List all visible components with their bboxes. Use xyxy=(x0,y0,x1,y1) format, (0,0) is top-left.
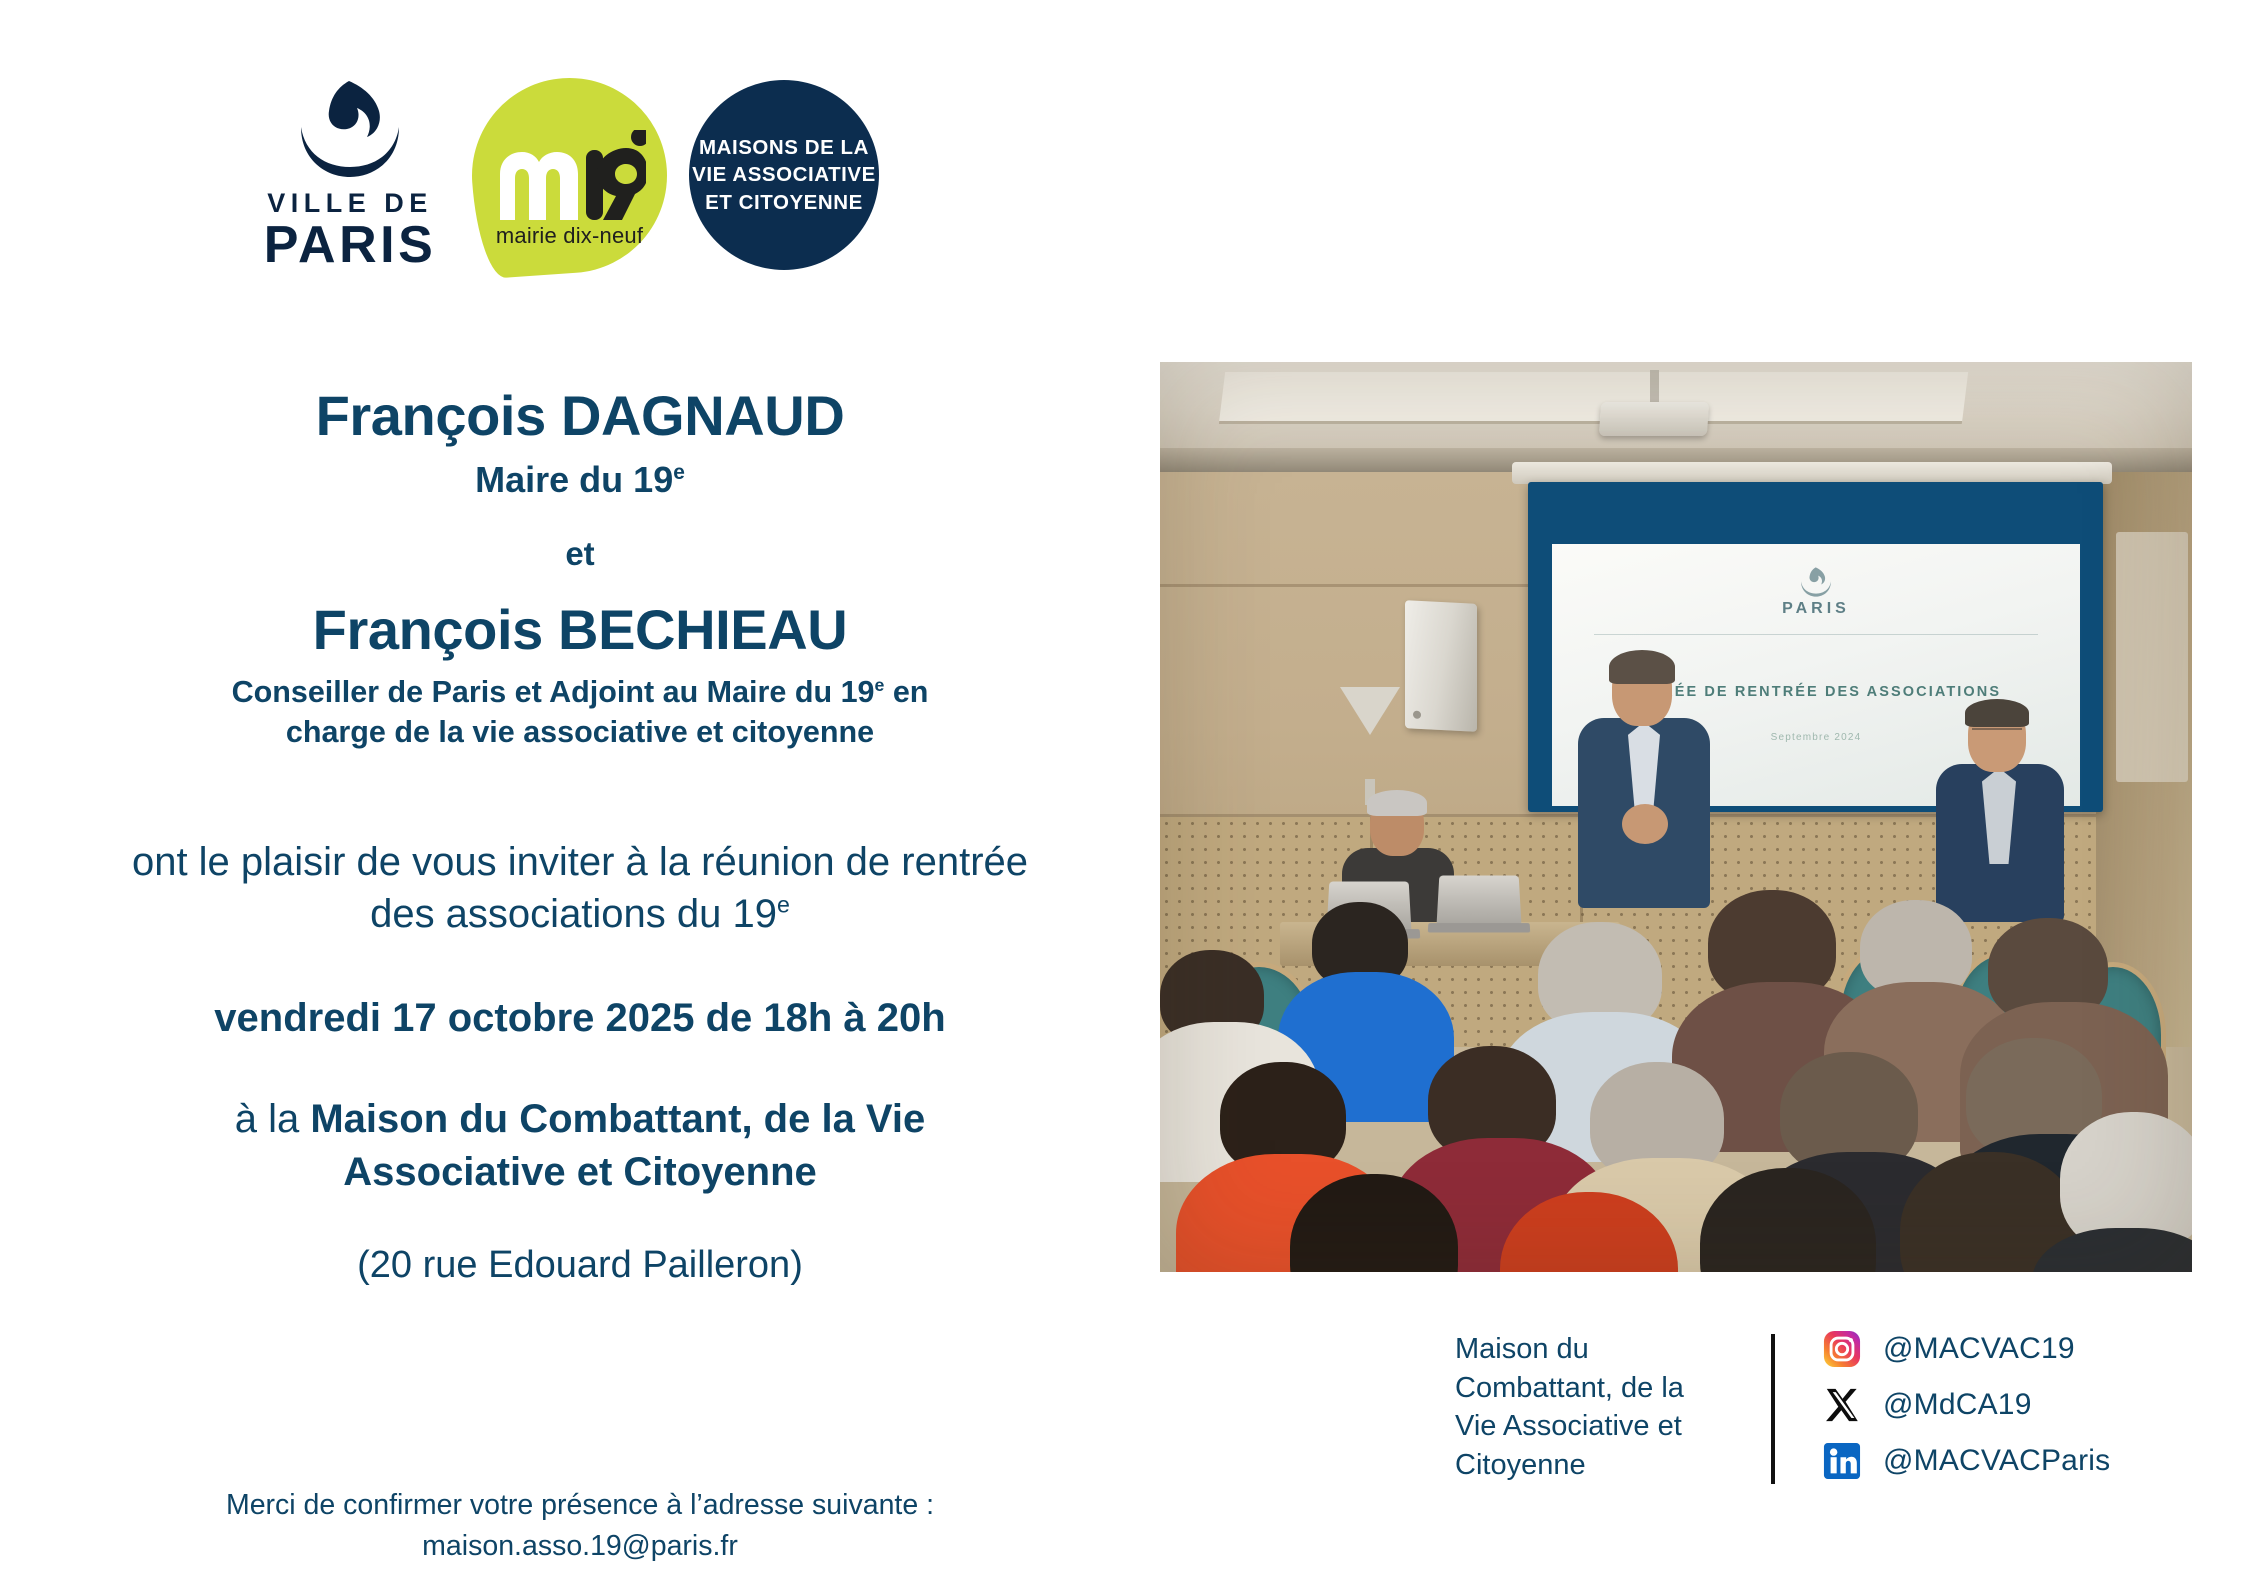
speaker-right xyxy=(1936,702,2064,917)
logo-paris-line2: PARIS xyxy=(264,219,437,272)
wall-light-cone xyxy=(1340,687,1400,735)
event-photo: PARIS SOIRÉE DE RENTRÉE DES ASSOCIATIONS… xyxy=(1160,362,2192,1272)
x-twitter-handle: @MdCA19 xyxy=(1883,1388,2032,1422)
linkedin-icon xyxy=(1823,1442,1861,1480)
instagram-icon xyxy=(1823,1330,1861,1368)
laptop-2 xyxy=(1437,876,1522,925)
projector-icon xyxy=(1599,402,1709,436)
person2-role: Conseiller de Paris et Adjoint au Maire … xyxy=(60,672,1100,753)
social-links: @MACVAC19 @MdCA19 @MACVACParis xyxy=(1823,1330,2110,1480)
event-street: (20 rue Edouard Pailleron) xyxy=(60,1244,1100,1287)
logo-bar: VILLE DE PARIS mairie dix-neuf MAISONS D… xyxy=(250,75,879,275)
linkedin-handle: @MACVACParis xyxy=(1883,1444,2110,1478)
event-venue: à la Maison du Combattant, de la Vie Ass… xyxy=(60,1093,1100,1199)
projector-arm xyxy=(1650,370,1659,404)
logo-ville-de-paris: VILLE DE PARIS xyxy=(250,77,450,272)
logo-mairie-19: mairie dix-neuf xyxy=(472,78,667,273)
footer-divider xyxy=(1771,1334,1775,1484)
logo-mvac-line1: MAISONS DE LA xyxy=(692,134,876,161)
seated-panelist-hair xyxy=(1367,790,1427,816)
person2-role-line2: charge de la vie associative et citoyenn… xyxy=(286,715,874,749)
person2-role-part2: en xyxy=(884,675,928,709)
social-linkedin[interactable]: @MACVACParis xyxy=(1823,1442,2110,1480)
instagram-handle: @MACVAC19 xyxy=(1883,1332,2075,1366)
invitation-text-column: François DAGNAUD Maire du 19e et Françoi… xyxy=(60,385,1100,1287)
person2-name: François BECHIEAU xyxy=(60,599,1100,662)
speaker-standing-hair xyxy=(1609,650,1675,684)
logo-paris-line1: VILLE DE xyxy=(267,188,433,219)
speaker-right-glasses-icon xyxy=(1972,728,2022,738)
x-twitter-icon xyxy=(1823,1386,1861,1424)
footer-address: Maison du Combattant, de la Vie Associat… xyxy=(1455,1330,1745,1484)
venue-prefix: à la xyxy=(235,1097,311,1141)
person1-name: François DAGNAUD xyxy=(60,385,1100,448)
logo-mvac-line3: ET CITOYENNE xyxy=(692,189,876,216)
speaker-standing-hands xyxy=(1622,804,1668,844)
event-date: vendredi 17 octobre 2025 de 18h à 20h xyxy=(60,996,1100,1041)
footer-address-line4: Citoyenne xyxy=(1455,1446,1745,1485)
person1-role-ordinal: e xyxy=(673,461,685,484)
logo-mvac-text: MAISONS DE LA VIE ASSOCIATIVE ET CITOYEN… xyxy=(692,134,876,216)
rsvp-block: Merci de confirmer votre présence à l’ad… xyxy=(60,1485,1100,1568)
rsvp-instruction: Merci de confirmer votre présence à l’ad… xyxy=(60,1485,1100,1526)
logo-m19-caption: mairie dix-neuf xyxy=(472,223,667,249)
slide-divider xyxy=(1594,634,2038,635)
person1-role-text: Maire du 19 xyxy=(475,459,673,500)
photo-scene: PARIS SOIRÉE DE RENTRÉE DES ASSOCIATIONS… xyxy=(1160,362,2192,1272)
paris-boat-icon xyxy=(291,77,409,181)
right-wall-panel xyxy=(2116,532,2188,782)
person2-role-ordinal: e xyxy=(875,674,885,694)
logo-mvac-line2: VIE ASSOCIATIVE xyxy=(692,161,876,188)
invitation-body: ont le plaisir de vous inviter à la réun… xyxy=(60,836,1100,940)
separator-et: et xyxy=(60,535,1100,573)
screen-roller xyxy=(1512,462,2112,484)
speaker-right-hair xyxy=(1965,699,2029,727)
invitation-body-line2: des associations du 19 xyxy=(370,892,777,936)
wall-speaker-icon xyxy=(1405,600,1477,732)
footer: Maison du Combattant, de la Vie Associat… xyxy=(1455,1330,2215,1484)
footer-address-line3: Vie Associative et xyxy=(1455,1407,1745,1446)
logo-mvac: MAISONS DE LA VIE ASSOCIATIVE ET CITOYEN… xyxy=(689,80,879,270)
social-instagram[interactable]: @MACVAC19 xyxy=(1823,1330,2110,1368)
ceiling-inset xyxy=(1219,372,1968,424)
venue-name: Maison du Combattant, de la Vie Associat… xyxy=(310,1097,925,1194)
rsvp-email[interactable]: maison.asso.19@paris.fr xyxy=(60,1526,1100,1567)
m19-mark-icon xyxy=(496,130,646,222)
invitation-body-ordinal: e xyxy=(777,892,790,918)
person1-role: Maire du 19e xyxy=(60,458,1100,501)
social-x-twitter[interactable]: @MdCA19 xyxy=(1823,1386,2110,1424)
invitation-body-line1: ont le plaisir de vous inviter à la réun… xyxy=(132,840,1028,884)
footer-address-line2: Combattant, de la xyxy=(1455,1369,1745,1408)
footer-address-line1: Maison du xyxy=(1455,1330,1745,1369)
slide-paris-logo-icon xyxy=(1798,566,1834,598)
person2-role-part1: Conseiller de Paris et Adjoint au Maire … xyxy=(232,675,875,709)
speaker-standing xyxy=(1578,654,1710,904)
slide-brand: PARIS xyxy=(1782,600,1850,618)
